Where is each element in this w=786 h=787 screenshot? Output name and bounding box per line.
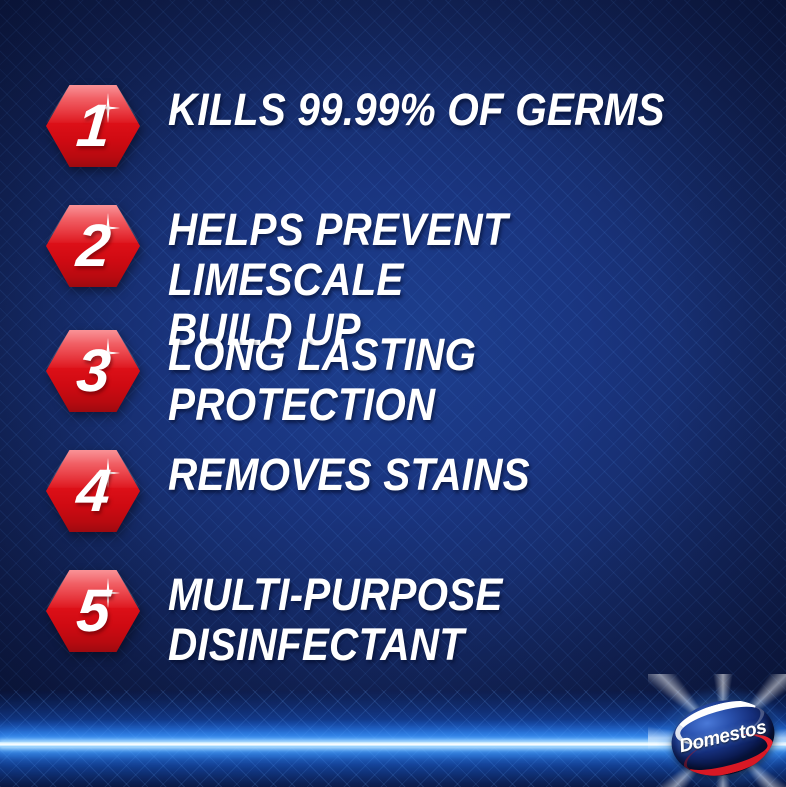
- domestos-benefits-poster: 1 KILLS 99.99% OF GERMS 2 HELPS PREVENT …: [0, 0, 786, 787]
- benefit-row-4: 4 REMOVES STAINS: [46, 450, 570, 532]
- benefit-text-3: LONG LASTING PROTECTION: [168, 330, 724, 430]
- benefit-number-4: 4: [42, 450, 143, 532]
- benefit-text-1: KILLS 99.99% OF GERMS: [168, 85, 665, 135]
- hexagon-badge-5: 5: [46, 570, 140, 652]
- benefit-text-5: MULTI-PURPOSE DISINFECTANT: [168, 570, 724, 670]
- hexagon-badge-3: 3: [46, 330, 140, 412]
- hexagon-badge-4: 4: [46, 450, 140, 532]
- benefit-number-3: 3: [42, 330, 143, 412]
- benefit-number-5: 5: [42, 570, 143, 652]
- brand-logo: Domestos: [660, 688, 786, 787]
- benefit-row-5: 5 MULTI-PURPOSE DISINFECTANT: [46, 570, 786, 670]
- benefit-row-3: 3 LONG LASTING PROTECTION: [46, 330, 786, 430]
- benefit-row-1: 1 KILLS 99.99% OF GERMS: [46, 85, 720, 167]
- hexagon-badge-1: 1: [46, 85, 140, 167]
- benefit-number-1: 1: [42, 85, 143, 167]
- benefit-text-4: REMOVES STAINS: [168, 450, 530, 500]
- benefit-number-2: 2: [42, 205, 143, 287]
- hexagon-badge-2: 2: [46, 205, 140, 287]
